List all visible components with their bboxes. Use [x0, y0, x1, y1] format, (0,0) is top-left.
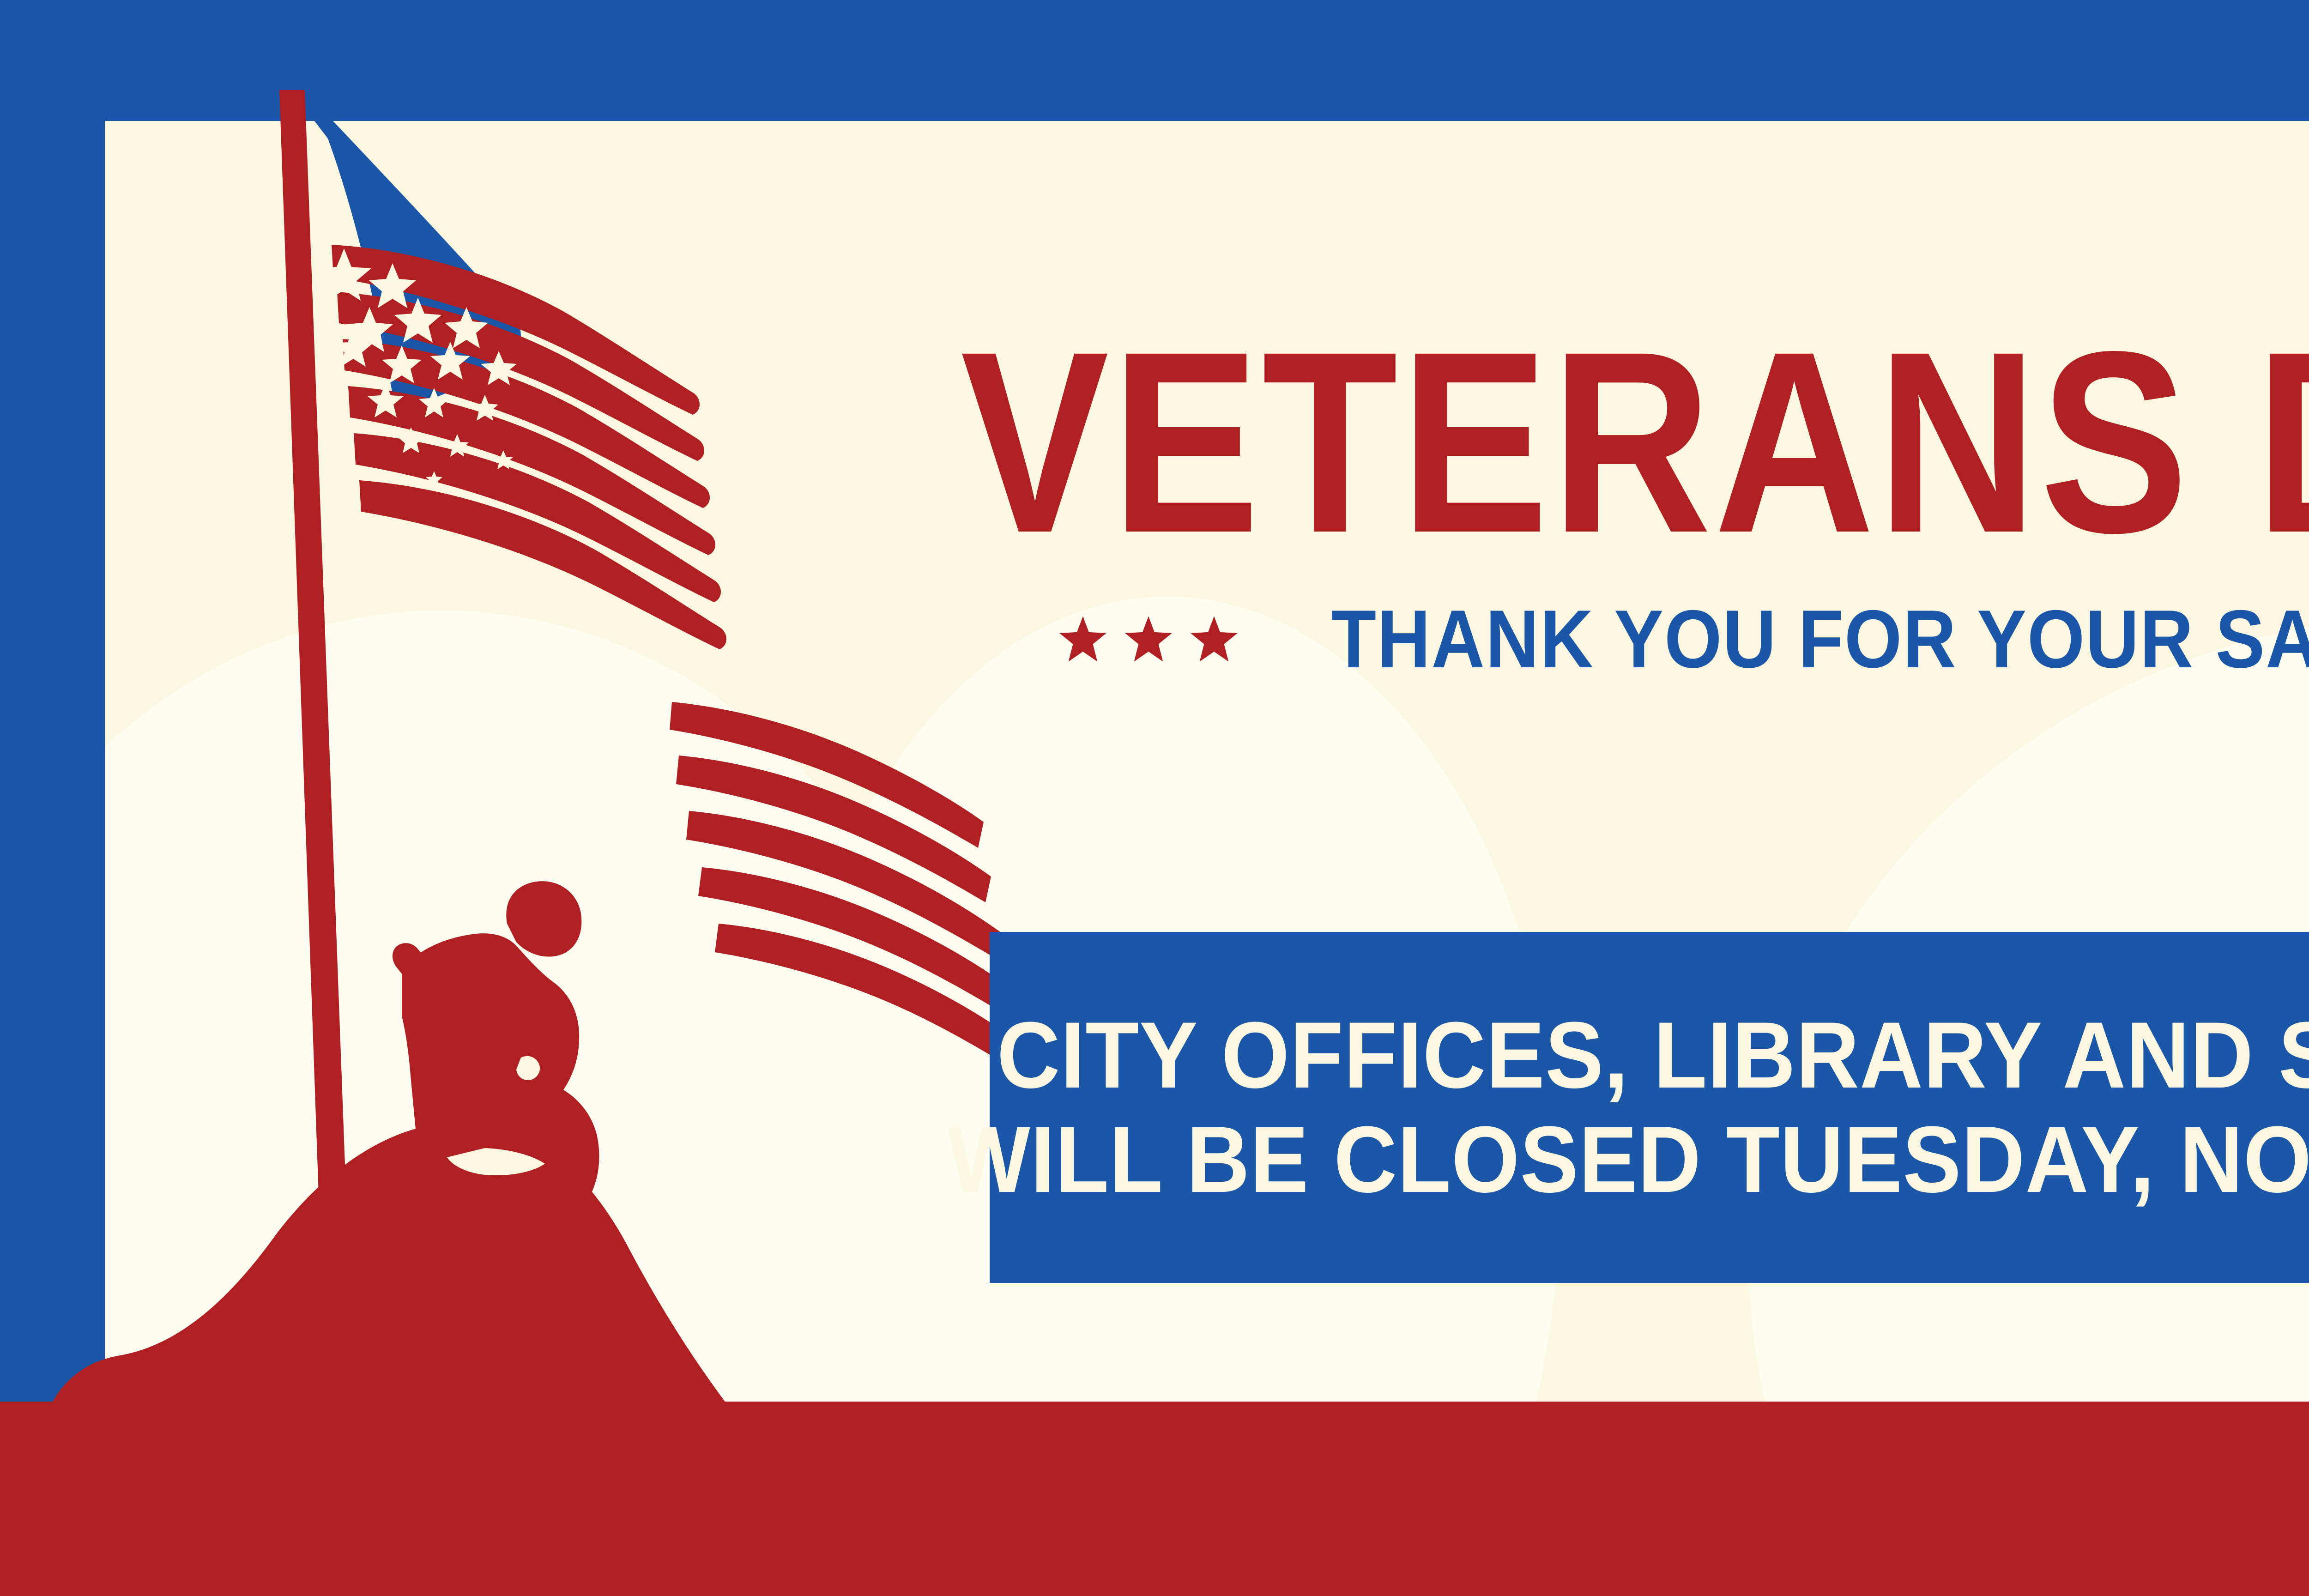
poster-content: VETERANS DAY THANK YOU FOR YOUR SACRIFIC… [961, 323, 2309, 686]
star-icon [1189, 614, 1239, 664]
closure-banner: CITY OFFICES, LIBRARY AND SENIOR CENTER … [990, 932, 2309, 1283]
star-icon [1124, 614, 1173, 664]
star-icon [1058, 614, 1108, 664]
veterans-day-poster: VETERANS DAY THANK YOU FOR YOUR SACRIFIC… [0, 0, 2309, 1596]
page-title: VETERANS DAY [961, 323, 2309, 561]
closure-banner-line-1: CITY OFFICES, LIBRARY AND SENIOR CENTER [997, 1008, 2309, 1102]
stars-left-group [1058, 614, 1239, 664]
bottom-red-band [0, 1402, 2309, 1596]
closure-banner-line-2: WILL BE CLOSED TUESDAY, NOVEMBER 11, 202… [947, 1112, 2309, 1207]
subtitle-row: THANK YOU FOR YOUR SACRIFICE [961, 592, 2309, 686]
poster-subtitle: THANK YOU FOR YOUR SACRIFICE [1331, 592, 2309, 686]
